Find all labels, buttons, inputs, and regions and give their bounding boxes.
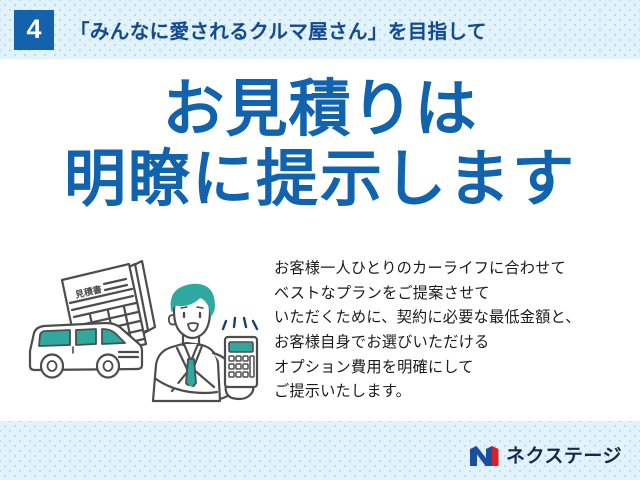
headline-line-2: 明瞭に提示します (0, 146, 640, 212)
calculator (225, 337, 257, 387)
header-title: 「みんなに愛されるクルマ屋さん」を目指して (70, 15, 487, 44)
nextage-n-mark (469, 445, 499, 467)
banner-header: 4 「みんなに愛されるクルマ屋さん」を目指して (0, 0, 640, 59)
headline-line-1: お見積りは (0, 76, 640, 142)
content-stage: お見積りは 明瞭に提示します お客様一人ひとりのカーライフに合わせて ベストなプ… (0, 59, 640, 421)
illustration: 見積書 (20, 249, 270, 414)
headline: お見積りは 明瞭に提示します (0, 76, 640, 211)
body-copy-line: オプション費用を明確にして (274, 355, 634, 380)
brand-logo: ネクステージ (469, 443, 622, 469)
promo-banner: 4 「みんなに愛されるクルマ屋さん」を目指して お見積りは 明瞭に提示します お… (0, 0, 640, 480)
brand-logo-text: ネクステージ (506, 447, 622, 466)
step-number-badge: 4 (14, 10, 54, 50)
body-copy-line: お客様自身でお選びいただける (274, 330, 634, 355)
body-copy-line: ベストなプランをご提案させて (274, 281, 634, 306)
body-copy-line: お客様一人ひとりのカーライフに合わせて (274, 256, 634, 281)
body-copy: お客様一人ひとりのカーライフに合わせて ベストなプランをご提案させて いただくた… (274, 256, 634, 404)
sparkle-lines (223, 318, 257, 329)
van (30, 323, 142, 378)
body-copy-line: いただくために、契約に必要な最低金額と、 (274, 305, 634, 330)
body-copy-line: ご提示いたします。 (274, 379, 634, 404)
